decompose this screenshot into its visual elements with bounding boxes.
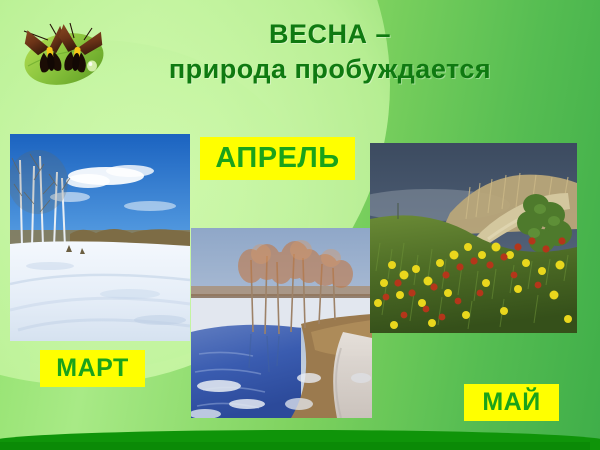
bottom-green-band-inner bbox=[0, 442, 590, 450]
title-line-1: ВЕСНА – bbox=[95, 17, 565, 52]
month-label-may-text: МАЙ bbox=[482, 388, 540, 417]
month-label-may[interactable]: МАЙ bbox=[464, 384, 559, 421]
month-label-april-text: АПРЕЛЬ bbox=[215, 142, 339, 175]
month-label-march-text: МАРТ bbox=[56, 354, 129, 383]
bottom-green-band bbox=[0, 430, 600, 450]
month-label-april[interactable]: АПРЕЛЬ bbox=[200, 137, 355, 180]
month-label-march[interactable]: МАРТ bbox=[40, 350, 145, 387]
slide-root: ВЕСНА – природа пробуждается bbox=[0, 0, 600, 450]
page-title: ВЕСНА – природа пробуждается bbox=[95, 17, 565, 86]
photo-march bbox=[10, 134, 190, 341]
photo-may bbox=[370, 143, 577, 333]
photo-april bbox=[191, 228, 372, 418]
title-line-2: природа пробуждается bbox=[95, 52, 565, 87]
